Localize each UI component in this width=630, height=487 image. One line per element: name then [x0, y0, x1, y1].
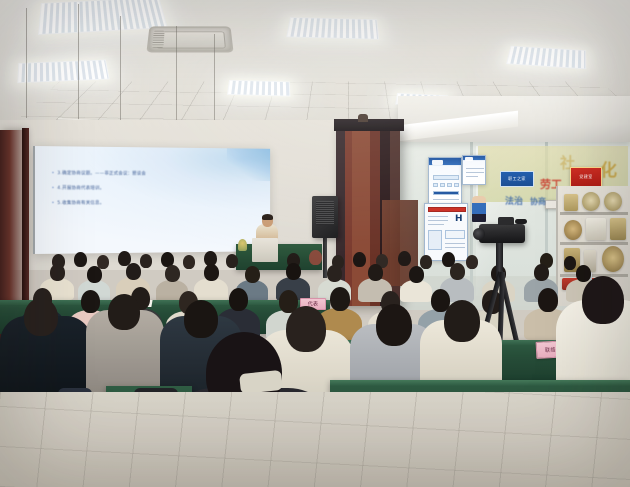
light-hanger-wire [120, 16, 121, 124]
attendee-head [534, 264, 549, 281]
attendee-head [327, 265, 342, 282]
wall-blue-characters: 协商 [530, 196, 546, 207]
presenter-head [262, 215, 273, 227]
conference-hall-photo: 化 社 H 职工之家 党建室 劳工 [0, 0, 630, 487]
display-artifact [582, 192, 600, 211]
ceiling-soffit [398, 96, 630, 142]
display-artifact [564, 194, 578, 211]
camera-lens-icon [473, 228, 485, 240]
wall-blue-characters: 法治 [505, 194, 523, 207]
attendee-head [81, 290, 100, 313]
red-room-sign: 党建室 [570, 167, 602, 187]
slide-bullet-line: 4.开展协商代表培训。 [52, 185, 105, 191]
display-artifact [586, 218, 606, 240]
attendee-head [450, 263, 465, 280]
attendee-head [184, 300, 218, 338]
blue-room-sign: 职工之家 [500, 171, 534, 187]
floor [0, 392, 630, 487]
display-artifact [564, 220, 582, 240]
attendee-head [24, 298, 58, 336]
light-hanger-wire [176, 26, 177, 128]
attendee-head [87, 266, 102, 283]
slide-bullet-line: 5.收集协商有关信息。 [52, 200, 105, 206]
ceiling-light [17, 60, 109, 84]
video-camera [479, 224, 525, 243]
pa-speaker [312, 196, 338, 238]
attendee-head [229, 288, 248, 311]
light-hanger-wire [214, 34, 215, 132]
attendee-head [204, 264, 219, 281]
slide-bullet-line: 3.确定协商议题。——非正式会议：懇谈会 [52, 170, 146, 176]
attendee-head [368, 264, 383, 281]
pillar-cap [334, 119, 404, 131]
poster-mascot-figure [472, 196, 486, 222]
information-poster [428, 157, 462, 207]
display-artifact [610, 218, 626, 240]
light-hanger-wire [26, 8, 27, 118]
attendee-head [165, 265, 180, 282]
table-edge-highlight [330, 380, 630, 386]
display-artifact [604, 192, 622, 211]
information-poster [462, 155, 486, 185]
attendee-head [409, 266, 424, 283]
air-conditioning-vent [146, 26, 233, 52]
ceiling-light [286, 17, 379, 39]
attendee-head [376, 304, 412, 346]
attendee-head [245, 266, 260, 283]
attendee-head [286, 306, 326, 352]
projection-screen: 3.确定协商议题。——非正式会议：懇谈会 4.开展协商代表培训。 5.收集协商有… [33, 146, 270, 254]
camera-microphone [515, 219, 527, 224]
light-hanger-wire [78, 4, 79, 120]
attendee-head [538, 288, 558, 312]
attendee-head [582, 276, 624, 324]
attendee-head [444, 300, 480, 342]
ceiling-light [227, 80, 290, 96]
wall-character-decal: 化 [600, 156, 617, 181]
attendee-head [330, 287, 350, 311]
attendee-head [108, 294, 140, 330]
camera-viewfinder [498, 217, 514, 225]
attendee-head [576, 265, 591, 282]
attendee-head [286, 263, 301, 280]
attendee-head [50, 264, 65, 281]
attendee-head [126, 263, 141, 280]
